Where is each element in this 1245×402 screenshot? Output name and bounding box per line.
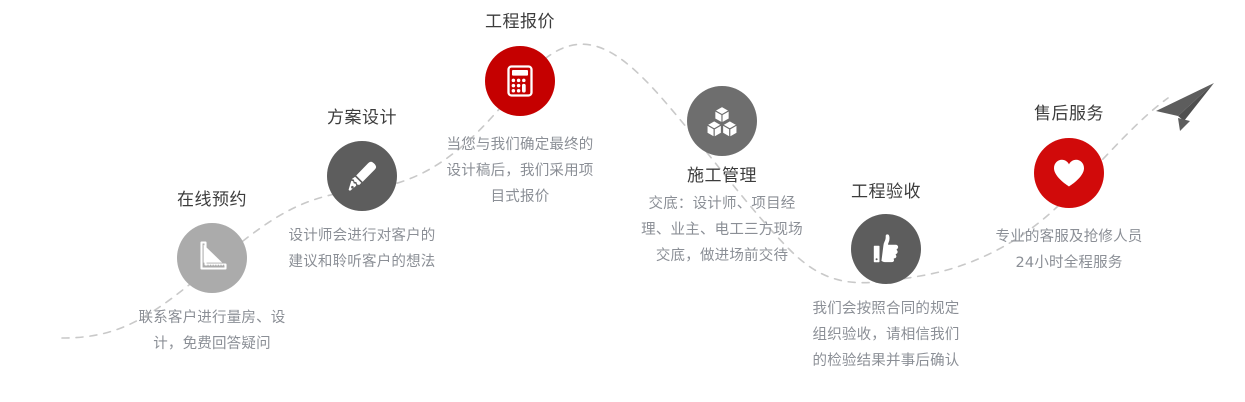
step-title: 工程报价: [420, 12, 620, 32]
step-icon-wrap: [969, 138, 1169, 208]
step-item-3[interactable]: 工程报价: [420, 12, 620, 210]
step-icon-circle[interactable]: [327, 141, 397, 211]
step-description: 交底：设计师、项目经理、业主、电工三方现场交底，做进场前交待: [638, 191, 806, 269]
step-item-5[interactable]: 工程验收 我们会按照合同的规定组织验收，请相信我们的检验结果并事后确认: [786, 182, 986, 374]
step-icon-circle[interactable]: [177, 223, 247, 293]
step-description: 我们会按照合同的规定组织验收，请相信我们的检验结果并事后确认: [811, 296, 961, 374]
process-flow-infographic: 在线预约: [0, 0, 1245, 402]
paper-plane-icon: [1148, 80, 1220, 142]
step-title: 售后服务: [969, 104, 1169, 124]
step-description: 专业的客服及抢修人员24小时全程服务: [994, 224, 1144, 276]
step-title: 工程验收: [786, 182, 986, 202]
step-description: 当您与我们确定最终的设计稿后，我们采用项目式报价: [445, 132, 595, 210]
heart-icon: [1047, 151, 1091, 195]
step-icon-circle[interactable]: [1034, 138, 1104, 208]
step-description: 联系客户进行量房、设计，免费回答疑问: [137, 305, 287, 357]
step-icon-wrap: [786, 214, 986, 284]
step-icon-circle[interactable]: [687, 86, 757, 156]
step-icon-wrap: [420, 46, 620, 116]
thumbs-up-icon: [865, 228, 907, 270]
set-square-ruler-icon: [192, 238, 232, 278]
fountain-pen-icon: [342, 156, 382, 196]
step-icon-circle[interactable]: [851, 214, 921, 284]
stacked-boxes-icon: [702, 101, 742, 141]
step-item-6[interactable]: 售后服务 专业的客服及抢修人员24小时全程服务: [969, 104, 1169, 276]
calculator-icon: [500, 61, 540, 101]
step-icon-circle[interactable]: [485, 46, 555, 116]
step-icon-wrap: [622, 86, 822, 156]
step-description: 设计师会进行对客户的建议和聆听客户的想法: [287, 223, 437, 275]
